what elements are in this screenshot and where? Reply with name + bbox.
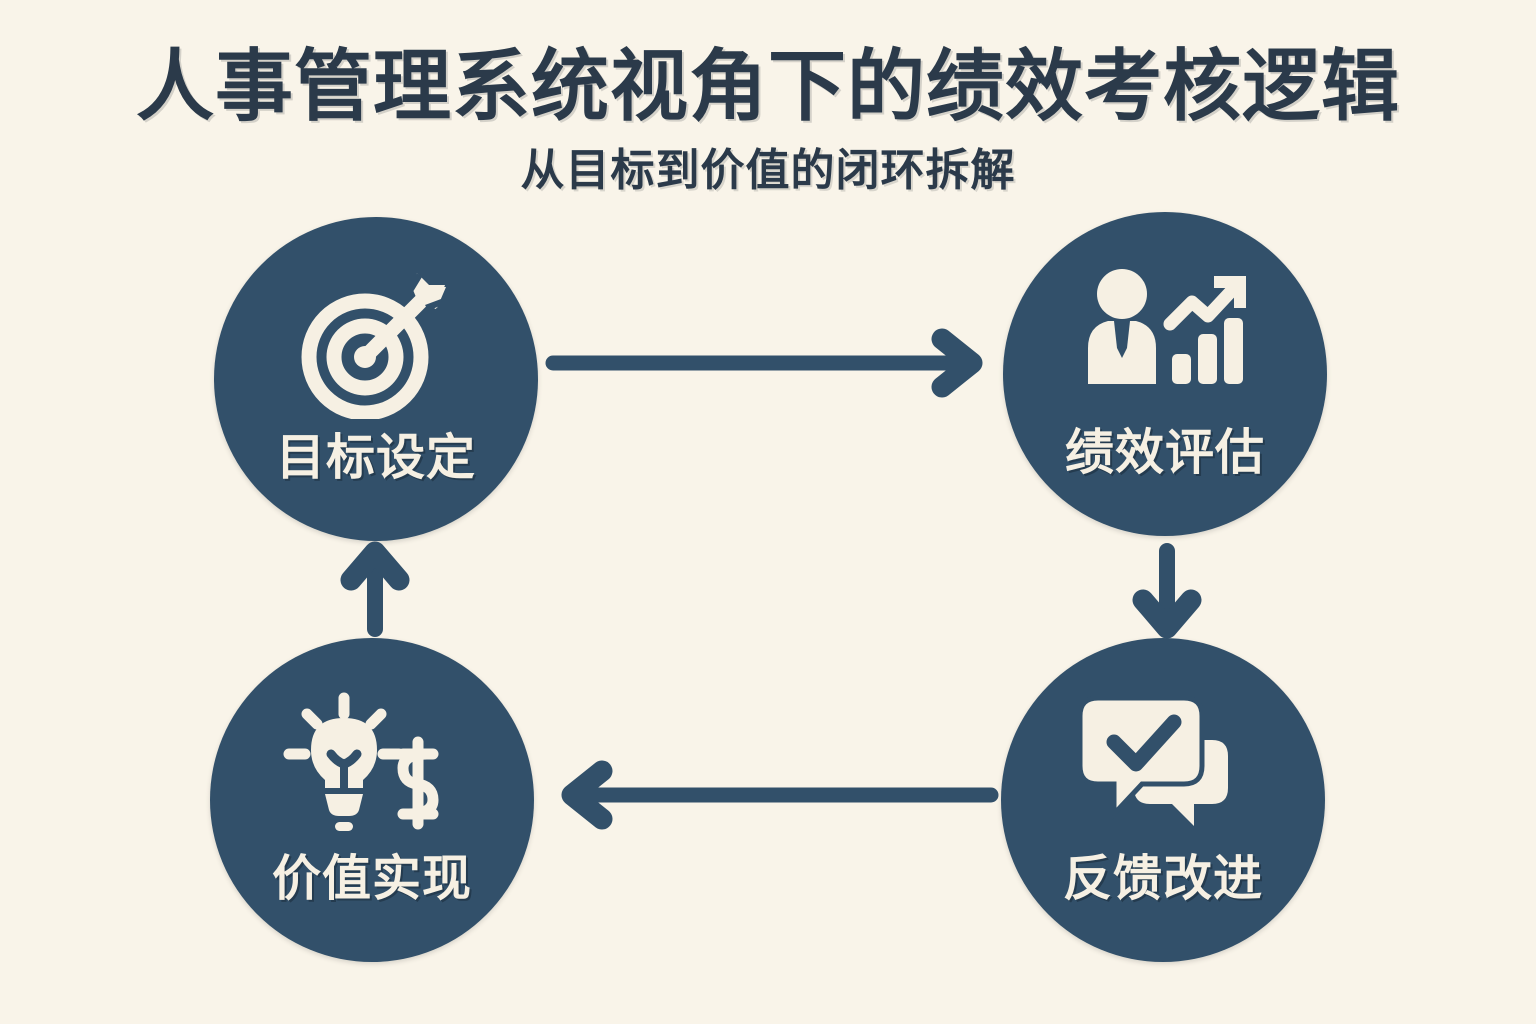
arrow-up-icon bbox=[342, 542, 408, 638]
arrow-right-icon bbox=[544, 330, 984, 396]
node-value-realization-label: 价值实现 bbox=[210, 850, 534, 908]
lightbulb-dollar-icon bbox=[281, 692, 463, 840]
page-title: 人事管理系统视角下的绩效考核逻辑 bbox=[0, 38, 1536, 134]
node-goal-setting-label: 目标设定 bbox=[214, 429, 538, 487]
node-performance-review-label: 绩效评估 bbox=[1003, 424, 1327, 482]
person-bar-chart-icon bbox=[1074, 266, 1256, 414]
node-performance-review[interactable]: 绩效评估 bbox=[1003, 212, 1327, 536]
node-goal-setting[interactable]: 目标设定 bbox=[214, 217, 538, 541]
node-feedback-improvement-label: 反馈改进 bbox=[1001, 850, 1325, 908]
node-value-realization[interactable]: 价值实现 bbox=[210, 638, 534, 962]
arrow-down-icon bbox=[1134, 542, 1200, 638]
node-feedback-improvement[interactable]: 反馈改进 bbox=[1001, 638, 1325, 962]
infographic-canvas: 人事管理系统视角下的绩效考核逻辑 从目标到价值的闭环拆解 目标设定 bbox=[0, 0, 1536, 1024]
chat-check-icon bbox=[1072, 692, 1254, 840]
arrow-left-icon bbox=[560, 762, 1000, 828]
page-subtitle: 从目标到价值的闭环拆解 bbox=[0, 143, 1536, 199]
target-arrow-icon bbox=[285, 271, 467, 419]
